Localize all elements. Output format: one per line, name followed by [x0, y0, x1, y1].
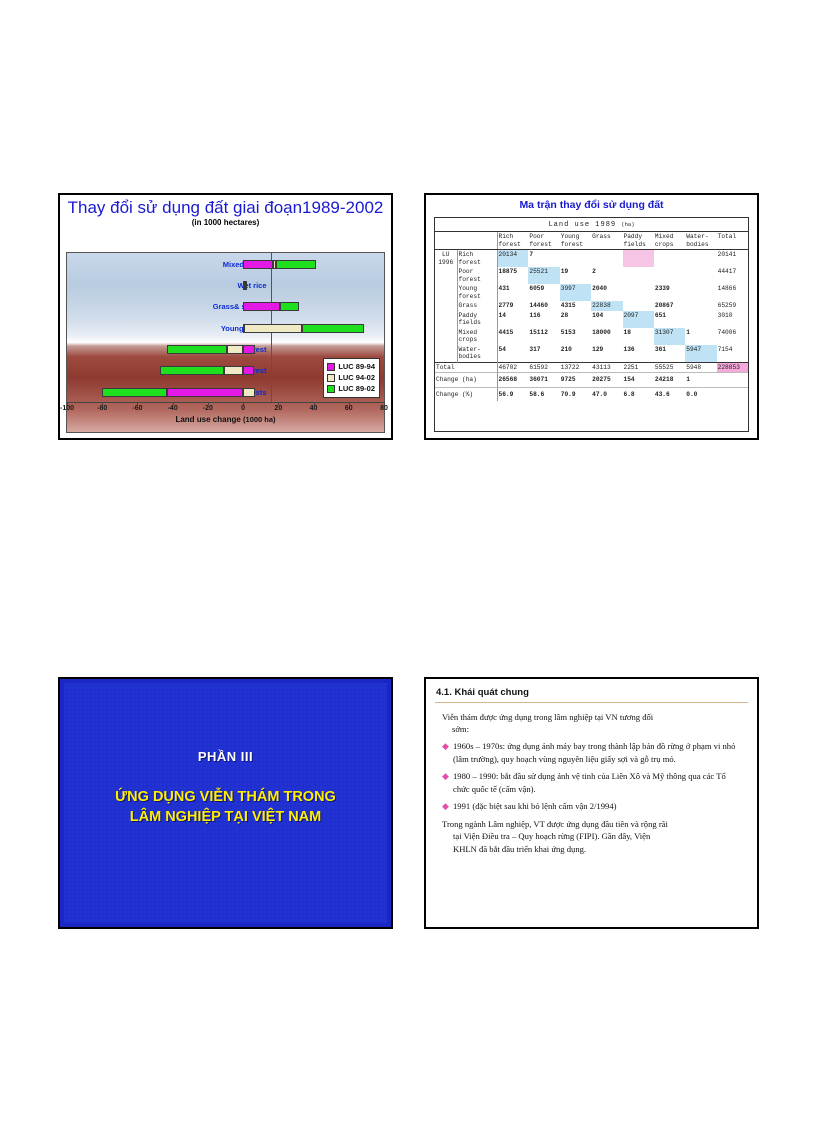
legend-label: LUC 94-02	[338, 373, 375, 383]
chart-bar-segment	[227, 345, 243, 354]
matrix-row-total: 3010	[717, 311, 748, 328]
matrix-value-cell: 4315	[560, 301, 591, 311]
matrix-row-total: 65259	[717, 301, 748, 311]
chart-bar-segment	[243, 388, 255, 397]
chart-bar-group	[67, 302, 384, 312]
matrix-row-header-line: crops	[459, 336, 496, 344]
matrix-row: Water-bodies5431721012913636159477154	[435, 345, 748, 363]
matrix-change-cell: 6.8	[623, 387, 654, 401]
bullet-item: ◆1960s – 1970s: ứng dụng ảnh máy bay tro…	[442, 740, 743, 765]
matrix-value-cell: 4415	[497, 328, 528, 345]
matrix-value-cell: 28	[560, 311, 591, 328]
matrix-row: LU1996Richforest20134720141	[435, 250, 748, 268]
matrix-column-header: Grass	[591, 232, 622, 250]
matrix-total-cell: 46702	[497, 362, 528, 373]
bullet-item: ◆1991 (đặc biệt sau khi bỏ lệnh cấm vận …	[442, 800, 743, 813]
matrix-value-cell: 54	[497, 345, 528, 363]
chart-bar-group	[67, 324, 384, 334]
matrix-row-header-line: forest	[459, 293, 496, 301]
text-slide-title: 4.1. Khái quát chung	[426, 679, 757, 698]
matrix-column-header: Poorforest	[528, 232, 559, 250]
text-slide-body: Viễn thám được ứng dụng trong lâm nghiệp…	[426, 703, 757, 855]
matrix-total-cell: 13722	[560, 362, 591, 373]
matrix-value-cell: 19	[560, 267, 591, 284]
matrix-change-cell: 58.6	[528, 387, 559, 401]
matrix-column-header-line: bodies	[686, 241, 715, 249]
matrix-row-header: Poorforest	[457, 267, 497, 284]
chart-bar-segment	[243, 366, 254, 375]
chart-bar-segment	[276, 260, 317, 269]
chart-bar-segment	[102, 388, 167, 397]
matrix-change-cell: 9725	[560, 373, 591, 388]
matrix-value-cell	[685, 284, 716, 301]
chart-x-axis: -100-80-60-40-20020406080 Land use chang…	[67, 402, 384, 432]
chart-bar-group	[67, 345, 384, 355]
matrix-value-cell: 20134	[497, 250, 528, 268]
matrix-value-cell: 14460	[528, 301, 559, 311]
chart-title: Thay đổi sử dụng đất giai đoạn1989-2002	[60, 195, 391, 217]
matrix-band-header: Land use 1989 (ha)	[435, 218, 748, 232]
bullet-list: ◆1960s – 1970s: ứng dụng ảnh máy bay tro…	[442, 740, 743, 813]
axis-tick-label: -80	[97, 405, 107, 412]
section-heading: ỨNG DỤNG VIỄN THÁM TRONG LÂM NGHIỆP TẠI …	[64, 787, 387, 827]
legend-swatch	[327, 374, 335, 382]
matrix-row: Poorforest188752552119244417	[435, 267, 748, 284]
matrix-change-cell: 0.0	[685, 387, 716, 401]
matrix-row-header-line: Paddy	[459, 312, 496, 320]
matrix-column-header: Richforest	[497, 232, 528, 250]
matrix-value-cell	[654, 250, 685, 268]
axis-tick-label: 40	[310, 405, 318, 412]
matrix-change-total	[717, 373, 748, 388]
matrix-row-header-line: Young	[459, 285, 496, 293]
matrix-value-cell	[623, 284, 654, 301]
matrix-column-header-line: Water-	[686, 233, 715, 241]
matrix-row-header: Youngforest	[457, 284, 497, 301]
matrix-value-cell: 31307	[654, 328, 685, 345]
matrix-row-header-line: forest	[459, 276, 496, 284]
matrix-side-label-line: 1996	[436, 259, 456, 267]
chart-subtitle: (in 1000 hectares)	[60, 218, 391, 227]
intro-line2: sớm:	[442, 723, 743, 735]
matrix-value-cell	[623, 301, 654, 311]
bullet-text: 1980 – 1990: bắt đầu sử dụng ảnh vệ tinh…	[453, 770, 743, 795]
matrix-row-header-line: fields	[459, 319, 496, 327]
bullet-diamond-icon: ◆	[442, 800, 453, 813]
chart-bar-segment	[302, 324, 364, 333]
matrix-column-header-line: Rich	[499, 233, 528, 241]
chart-bar-segment	[243, 260, 273, 269]
matrix-value-cell: 2040	[591, 284, 622, 301]
matrix-column-header-line: forest	[561, 241, 590, 249]
chart-bar-segment	[167, 345, 227, 354]
matrix-change-ha-row: Change (ha)2656836071972520275154242181	[435, 373, 748, 388]
matrix-change-cell: 24218	[654, 373, 685, 388]
matrix-change-cell: 56.9	[497, 387, 528, 401]
matrix-row-header-line: Poor	[459, 268, 496, 276]
matrix-row-header-line: Water-	[459, 346, 496, 354]
matrix-value-cell: 361	[654, 345, 685, 363]
matrix-value-cell: 317	[528, 345, 559, 363]
matrix-value-cell: 651	[654, 311, 685, 328]
section-background: PHẦN III ỨNG DỤNG VIỄN THÁM TRONG LÂM NG…	[64, 683, 387, 923]
matrix-change-label: Change (%)	[435, 387, 497, 401]
axis-tick-label: -40	[168, 405, 178, 412]
matrix-row-header-line: forest	[459, 259, 496, 267]
chart-axis-title: Land use change (1000 ha)	[67, 415, 384, 424]
matrix-value-cell: 18	[623, 328, 654, 345]
matrix-change-cell: 1	[685, 373, 716, 388]
axis-tick-label: 20	[274, 405, 282, 412]
chart-bar-segment	[280, 302, 299, 311]
matrix-row-header: Grass	[457, 301, 497, 311]
matrix-row: Mixedcrops441515112515318000183130717400…	[435, 328, 748, 345]
matrix-total-row: Total46702615921372243113225155525594822…	[435, 362, 748, 373]
axis-tick-label: -20	[203, 405, 213, 412]
legend-label: LUC 89-02	[338, 384, 375, 394]
closing-line3: KHLN đã bắt đầu triển khai ứng dụng.	[442, 843, 743, 856]
matrix-column-header-line: Total	[718, 233, 747, 241]
matrix-value-cell: 22838	[591, 301, 622, 311]
matrix-value-cell: 116	[528, 311, 559, 328]
matrix-row: Youngforest431605939972040233914866	[435, 284, 748, 301]
matrix-column-header-line: Grass	[592, 233, 621, 241]
matrix-value-cell: 20867	[654, 301, 685, 311]
matrix-row-total: 14866	[717, 284, 748, 301]
closing-paragraph: Trong ngành Lâm nghiệp, VT được ứng dụng…	[442, 818, 743, 856]
matrix-row-header-line: Mixed	[459, 329, 496, 337]
matrix-value-cell	[623, 267, 654, 284]
legend-item: LUC 89-94	[327, 362, 375, 372]
matrix-column-header-line: Young	[561, 233, 590, 241]
axis-tick-label: 80	[380, 405, 388, 412]
matrix-side-label: LU1996	[435, 250, 457, 363]
slide-section-divider: PHẦN III ỨNG DỤNG VIỄN THÁM TRONG LÂM NG…	[58, 677, 393, 929]
chart-bar-segment	[245, 281, 247, 290]
matrix-change-cell: 47.0	[591, 387, 622, 401]
intro-paragraph: Viễn thám được ứng dụng trong lâm nghiệp…	[442, 711, 743, 735]
chart-bar-segment	[224, 366, 243, 375]
matrix-column-header-line: forest	[529, 241, 558, 249]
matrix-row: Paddyfields141162810420976513010	[435, 311, 748, 328]
legend-item: LUC 94-02	[327, 373, 375, 383]
matrix-row-header: Water-bodies	[457, 345, 497, 363]
matrix-value-cell: 7	[528, 250, 559, 268]
matrix-value-cell	[685, 311, 716, 328]
matrix-header-row: RichforestPoorforestYoungforestGrassPadd…	[435, 232, 748, 250]
chart-axis-title-text: Land use change	[175, 415, 240, 424]
matrix-corner-2	[457, 232, 497, 250]
matrix-band-label: Land use 1989	[548, 221, 616, 229]
chart-bar-segment	[160, 366, 223, 375]
legend-label: LUC 89-94	[338, 362, 375, 372]
matrix-change-pct-row: Change (%)56.958.670.947.06.843.60.0	[435, 387, 748, 401]
chart-plot-area: Mixed cropsWet riceGrass& shrubsYoung fo…	[66, 252, 385, 433]
matrix-value-cell	[654, 267, 685, 284]
matrix-value-cell: 15112	[528, 328, 559, 345]
section-heading-line1: ỨNG DỤNG VIỄN THÁM TRONG	[64, 787, 387, 807]
legend-item: LUC 89-02	[327, 384, 375, 394]
matrix-value-cell: 18000	[591, 328, 622, 345]
matrix-table: RichforestPoorforestYoungforestGrassPadd…	[435, 232, 748, 401]
matrix-value-cell: 2339	[654, 284, 685, 301]
matrix-frame: Land use 1989 (ha) RichforestPoorforestY…	[434, 217, 749, 432]
matrix-column-header-line: Paddy	[624, 233, 653, 241]
section-heading-line2: LÂM NGHIỆP TẠI VIỆT NAM	[64, 807, 387, 827]
legend-swatch	[327, 363, 335, 371]
matrix-column-header-line: forest	[499, 241, 528, 249]
matrix-change-label: Change (ha)	[435, 373, 497, 388]
matrix-value-cell: 5947	[685, 345, 716, 363]
chart-bar-segment	[243, 302, 280, 311]
matrix-band-unit: (ha)	[621, 221, 634, 228]
matrix-value-cell	[685, 250, 716, 268]
matrix-value-cell: 3997	[560, 284, 591, 301]
intro-line1: Viễn thám được ứng dụng trong lâm nghiệp…	[442, 712, 653, 722]
bullet-diamond-icon: ◆	[442, 740, 453, 765]
matrix-value-cell: 2779	[497, 301, 528, 311]
matrix-change-cell: 70.9	[560, 387, 591, 401]
matrix-value-cell: 1	[685, 328, 716, 345]
axis-tick-label: 0	[241, 405, 245, 412]
matrix-value-cell	[623, 250, 654, 268]
axis-tick-label: -100	[60, 405, 74, 412]
bullet-item: ◆1980 – 1990: bắt đầu sử dụng ảnh vệ tin…	[442, 770, 743, 795]
matrix-title: Ma trận thay đổi sử dụng đất	[426, 195, 757, 214]
axis-tick-label: 60	[345, 405, 353, 412]
matrix-total-cell: 5948	[685, 362, 716, 373]
matrix-corner-1	[435, 232, 457, 250]
matrix-row-header: Richforest	[457, 250, 497, 268]
matrix-value-cell: 129	[591, 345, 622, 363]
matrix-row-header-line: Rich	[459, 251, 496, 259]
matrix-column-header-line: Mixed	[655, 233, 684, 241]
matrix-side-label-line: LU	[436, 251, 456, 259]
matrix-change-cell: 36071	[528, 373, 559, 388]
matrix-column-header-line: crops	[655, 241, 684, 249]
matrix-value-cell: 104	[591, 311, 622, 328]
matrix-grand-total: 228853	[717, 362, 748, 373]
matrix-total-cell: 43113	[591, 362, 622, 373]
slide-land-use-matrix: Ma trận thay đổi sử dụng đất Land use 19…	[424, 193, 759, 440]
matrix-value-cell	[591, 250, 622, 268]
matrix-row: Grass2779144604315228382086765259	[435, 301, 748, 311]
bullet-diamond-icon: ◆	[442, 770, 453, 795]
matrix-value-cell: 210	[560, 345, 591, 363]
matrix-column-header-line: fields	[624, 241, 653, 249]
matrix-value-cell	[685, 301, 716, 311]
section-part-label: PHẦN III	[64, 749, 387, 764]
matrix-column-header: Total	[717, 232, 748, 250]
matrix-total-cell: 61592	[528, 362, 559, 373]
matrix-row-header: Mixedcrops	[457, 328, 497, 345]
matrix-value-cell: 14	[497, 311, 528, 328]
slide-land-use-change-chart: Thay đổi sử dụng đất giai đoạn1989-2002 …	[58, 193, 393, 440]
slide-overview-text: 4.1. Khái quát chung Viễn thám được ứng …	[424, 677, 759, 929]
chart-bar-segment	[243, 345, 255, 354]
matrix-row-header-line: bodies	[459, 353, 496, 361]
matrix-column-header: Paddyfields	[623, 232, 654, 250]
matrix-row-header: Paddyfields	[457, 311, 497, 328]
matrix-change-cell: 26568	[497, 373, 528, 388]
legend-swatch	[327, 385, 335, 393]
axis-tick-label: -60	[132, 405, 142, 412]
bullet-text: 1960s – 1970s: ứng dụng ảnh máy bay tron…	[453, 740, 743, 765]
matrix-value-cell	[560, 250, 591, 268]
chart-bar-segment	[244, 324, 302, 333]
chart-legend: LUC 89-94LUC 94-02LUC 89-02	[323, 358, 380, 398]
matrix-value-cell: 2097	[623, 311, 654, 328]
matrix-change-cell: 154	[623, 373, 654, 388]
matrix-change-cell: 43.6	[654, 387, 685, 401]
matrix-column-header: Youngforest	[560, 232, 591, 250]
chart-bar-group	[67, 281, 384, 291]
matrix-value-cell: 6059	[528, 284, 559, 301]
bullet-text: 1991 (đặc biệt sau khi bỏ lệnh cấm vận 2…	[453, 800, 743, 813]
matrix-row-total: 20141	[717, 250, 748, 268]
matrix-column-header: Water-bodies	[685, 232, 716, 250]
matrix-total-label: Total	[435, 362, 497, 373]
closing-line2: tại Viện Điều tra – Quy hoạch rừng (FIPI…	[442, 830, 743, 843]
matrix-total-cell: 2251	[623, 362, 654, 373]
matrix-total-cell: 55525	[654, 362, 685, 373]
matrix-value-cell	[685, 267, 716, 284]
matrix-row-header-line: Grass	[459, 302, 496, 310]
matrix-change-total	[717, 387, 748, 401]
chart-axis-unit: (1000 ha)	[243, 415, 276, 424]
chart-bar-group	[67, 260, 384, 270]
matrix-column-header-line: Poor	[529, 233, 558, 241]
matrix-value-cell: 18875	[497, 267, 528, 284]
matrix-value-cell: 136	[623, 345, 654, 363]
matrix-column-header: Mixedcrops	[654, 232, 685, 250]
closing-line1: Trong ngành Lâm nghiệp, VT được ứng dụng…	[442, 819, 668, 829]
matrix-value-cell: 25521	[528, 267, 559, 284]
matrix-value-cell: 2	[591, 267, 622, 284]
matrix-change-cell: 20275	[591, 373, 622, 388]
matrix-value-cell: 431	[497, 284, 528, 301]
matrix-value-cell: 5153	[560, 328, 591, 345]
matrix-row-total: 7154	[717, 345, 748, 363]
matrix-row-total: 74006	[717, 328, 748, 345]
matrix-row-total: 44417	[717, 267, 748, 284]
chart-bar-segment	[167, 388, 243, 397]
